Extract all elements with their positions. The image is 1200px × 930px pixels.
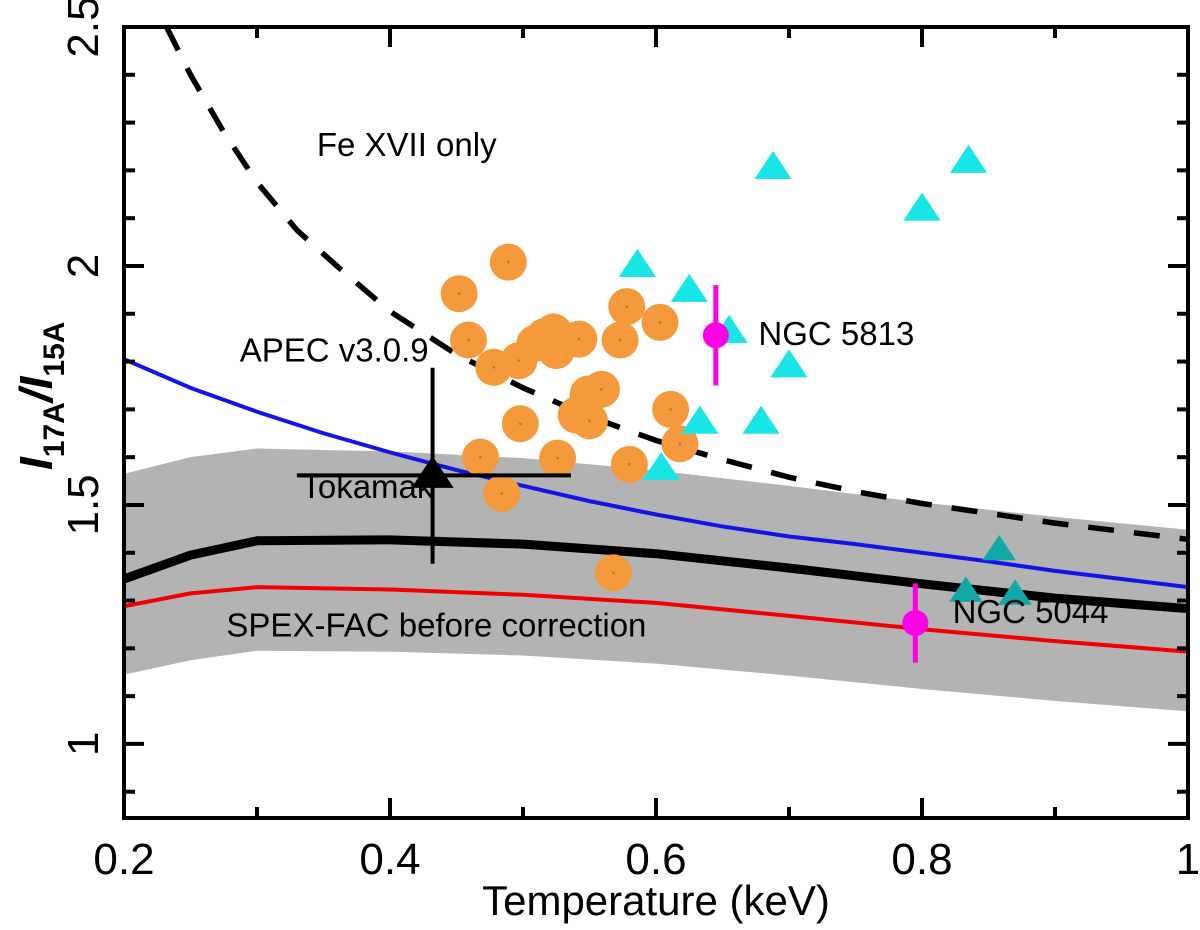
y-tick-label: 1	[59, 732, 108, 756]
axis-tick-labels: 0.20.40.60.8111.522.5	[59, 0, 1200, 884]
x-tick-label: 0.8	[891, 835, 952, 884]
cyan-data-point	[671, 274, 708, 302]
annotation-ngc5044: NGC 5044	[953, 593, 1109, 630]
y-axis-title: I17A/I15A	[10, 322, 71, 470]
cyan-data-point	[770, 349, 807, 377]
marker-center-dot	[500, 492, 503, 495]
marker-center-dot	[588, 419, 591, 422]
marker-center-dot	[577, 338, 580, 341]
cyan-data-point	[903, 192, 940, 220]
axes-frame	[124, 27, 1188, 818]
marker-center-dot	[679, 442, 682, 445]
annotation-tokamak: Tokamak	[301, 468, 434, 505]
scatter-plot: 0.20.40.60.8111.522.5 Fe XVII onlyAPEC v…	[0, 0, 1200, 930]
annotation-spexfac: SPEX-FAC before correction	[226, 606, 646, 643]
x-tick-label: 0.2	[93, 835, 154, 884]
marker-center-dot	[518, 359, 521, 362]
marker-center-dot	[625, 305, 628, 308]
x-tick-label: 0.4	[359, 835, 420, 884]
ngc-5044-marker	[902, 610, 928, 636]
y-tick-label: 2.5	[59, 0, 108, 58]
marker-center-dot	[467, 339, 470, 342]
annotation-apec: APEC v3.0.9	[240, 332, 429, 369]
plot-frame	[124, 27, 1188, 818]
annotation-ngc5813: NGC 5813	[758, 315, 914, 352]
marker-center-dot	[458, 292, 461, 295]
uncertainty-band	[124, 449, 1188, 712]
uncertainty-band-area	[124, 449, 1188, 712]
marker-center-dot	[556, 457, 559, 460]
ngc-5813-marker	[703, 322, 729, 348]
x-tick-label: 1	[1176, 835, 1200, 884]
annotation-fe17: Fe XVII only	[317, 126, 497, 163]
marker-center-dot	[479, 456, 482, 459]
cyan-data-point	[619, 249, 656, 277]
y-tick-label: 2	[59, 254, 108, 278]
y-tick-label: 1.5	[59, 474, 108, 535]
marker-center-dot	[659, 321, 662, 324]
marker-center-dot	[492, 366, 495, 369]
marker-center-dot	[619, 339, 622, 342]
cyan-data-point	[754, 151, 791, 179]
cyan-data-point	[742, 406, 779, 434]
marker-center-dot	[612, 571, 615, 574]
marker-center-dot	[628, 463, 631, 466]
marker-center-dot	[669, 408, 672, 411]
figure-container: 0.20.40.60.8111.522.5 Fe XVII onlyAPEC v…	[0, 0, 1200, 930]
x-axis-title: Temperature (keV)	[482, 877, 830, 924]
marker-center-dot	[600, 388, 603, 391]
axis-ticks	[124, 27, 1188, 818]
cyan-data-point	[950, 145, 987, 173]
marker-center-dot	[507, 261, 510, 264]
svg-text:I17A/I15A: I17A/I15A	[10, 322, 71, 470]
marker-center-dot	[519, 422, 522, 425]
